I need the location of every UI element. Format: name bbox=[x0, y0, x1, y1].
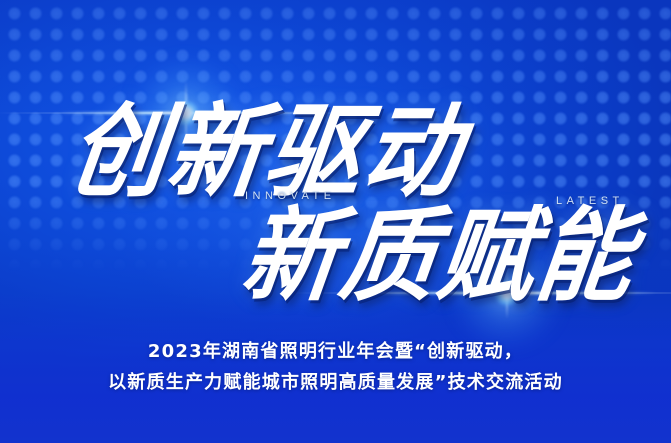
subtitle-line-2: 以新质生产力赋能城市照明高质量发展”技术交流活动 bbox=[0, 367, 671, 398]
subtitle-line-1: 2023年湖南省照明行业年会暨“创新驱动， bbox=[0, 336, 671, 367]
poster-title: 创新驱动 新质赋能 INNOVATE LATEST bbox=[0, 0, 671, 330]
english-caption-latest: LATEST bbox=[556, 195, 624, 207]
title-line-1: 创新驱动 bbox=[64, 101, 468, 203]
title-line-2: 新质赋能 bbox=[237, 205, 641, 307]
poster-subtitle: 2023年湖南省照明行业年会暨“创新驱动， 以新质生产力赋能城市照明高质量发展”… bbox=[0, 336, 671, 398]
event-poster-banner: 创新驱动 新质赋能 INNOVATE LATEST 2023年湖南省照明行业年会… bbox=[0, 0, 671, 443]
english-caption-innovate: INNOVATE bbox=[245, 190, 336, 202]
